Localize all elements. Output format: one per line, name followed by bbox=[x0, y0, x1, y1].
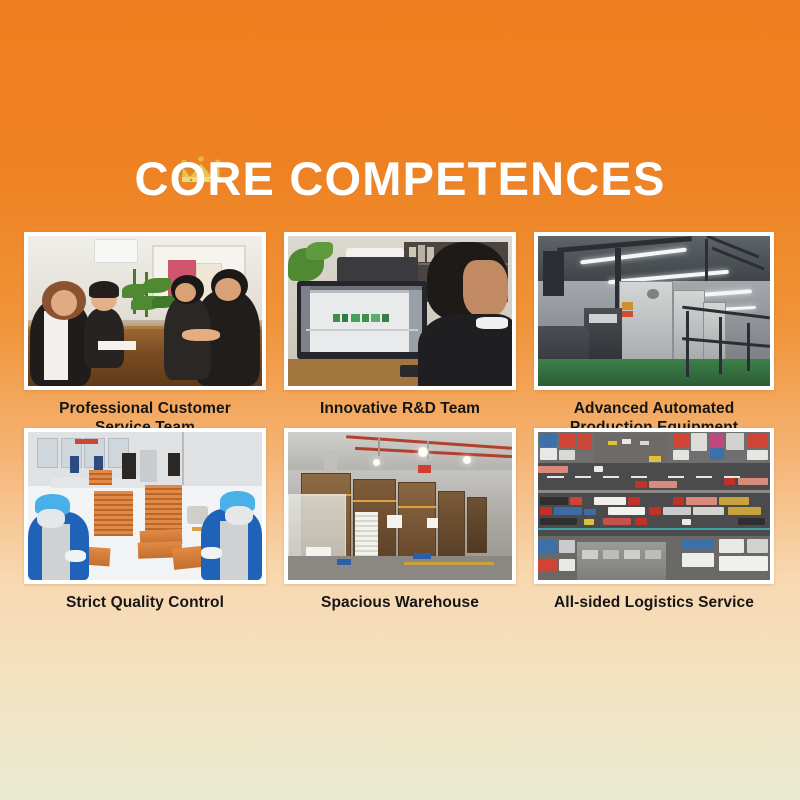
photo-production-equipment bbox=[538, 236, 770, 386]
competence-card-all-sided-logistics-service[interactable]: All-sided Logistics Service bbox=[534, 428, 774, 614]
photo-frame bbox=[24, 428, 266, 584]
photo-frame bbox=[534, 232, 774, 390]
caption-line: Professional Customer bbox=[24, 399, 266, 418]
competence-card-strict-quality-control[interactable]: Strict Quality Control bbox=[24, 428, 266, 614]
caption-line: Strict Quality Control bbox=[24, 593, 266, 612]
competence-card-spacious-warehouse[interactable]: Spacious Warehouse bbox=[284, 428, 516, 614]
caption-spacious-warehouse: Spacious Warehouse bbox=[284, 593, 516, 612]
photo-rd-team bbox=[288, 236, 512, 386]
photo-frame bbox=[284, 232, 516, 390]
photo-frame bbox=[24, 232, 266, 390]
title-block: CORE COMPETENCES bbox=[0, 150, 800, 208]
photo-warehouse bbox=[288, 432, 512, 580]
photo-quality-control bbox=[28, 432, 262, 580]
photo-frame bbox=[284, 428, 516, 584]
competence-card-advanced-automated-production-equipment[interactable]: Advanced Automated Production Equipment bbox=[534, 232, 774, 428]
page-title: CORE COMPETENCES bbox=[134, 150, 665, 208]
caption-strict-quality-control: Strict Quality Control bbox=[24, 593, 266, 612]
caption-line: Innovative R&D Team bbox=[284, 399, 516, 418]
caption-line: All-sided Logistics Service bbox=[534, 593, 774, 612]
photo-frame bbox=[534, 428, 774, 584]
core-competences-page: CORE COMPETENCES bbox=[0, 0, 800, 800]
caption-line: Advanced Automated bbox=[534, 399, 774, 418]
competence-card-innovative-rd-team[interactable]: Innovative R&D Team bbox=[284, 232, 516, 428]
photo-customer-service-team bbox=[28, 236, 262, 386]
competences-grid: Professional Customer Service Team bbox=[24, 232, 776, 614]
competence-card-professional-customer-service-team[interactable]: Professional Customer Service Team bbox=[24, 232, 266, 428]
photo-logistics-service bbox=[538, 432, 770, 580]
caption-all-sided-logistics-service: All-sided Logistics Service bbox=[534, 593, 774, 612]
caption-line: Spacious Warehouse bbox=[284, 593, 516, 612]
caption-innovative-rd-team: Innovative R&D Team bbox=[284, 399, 516, 418]
